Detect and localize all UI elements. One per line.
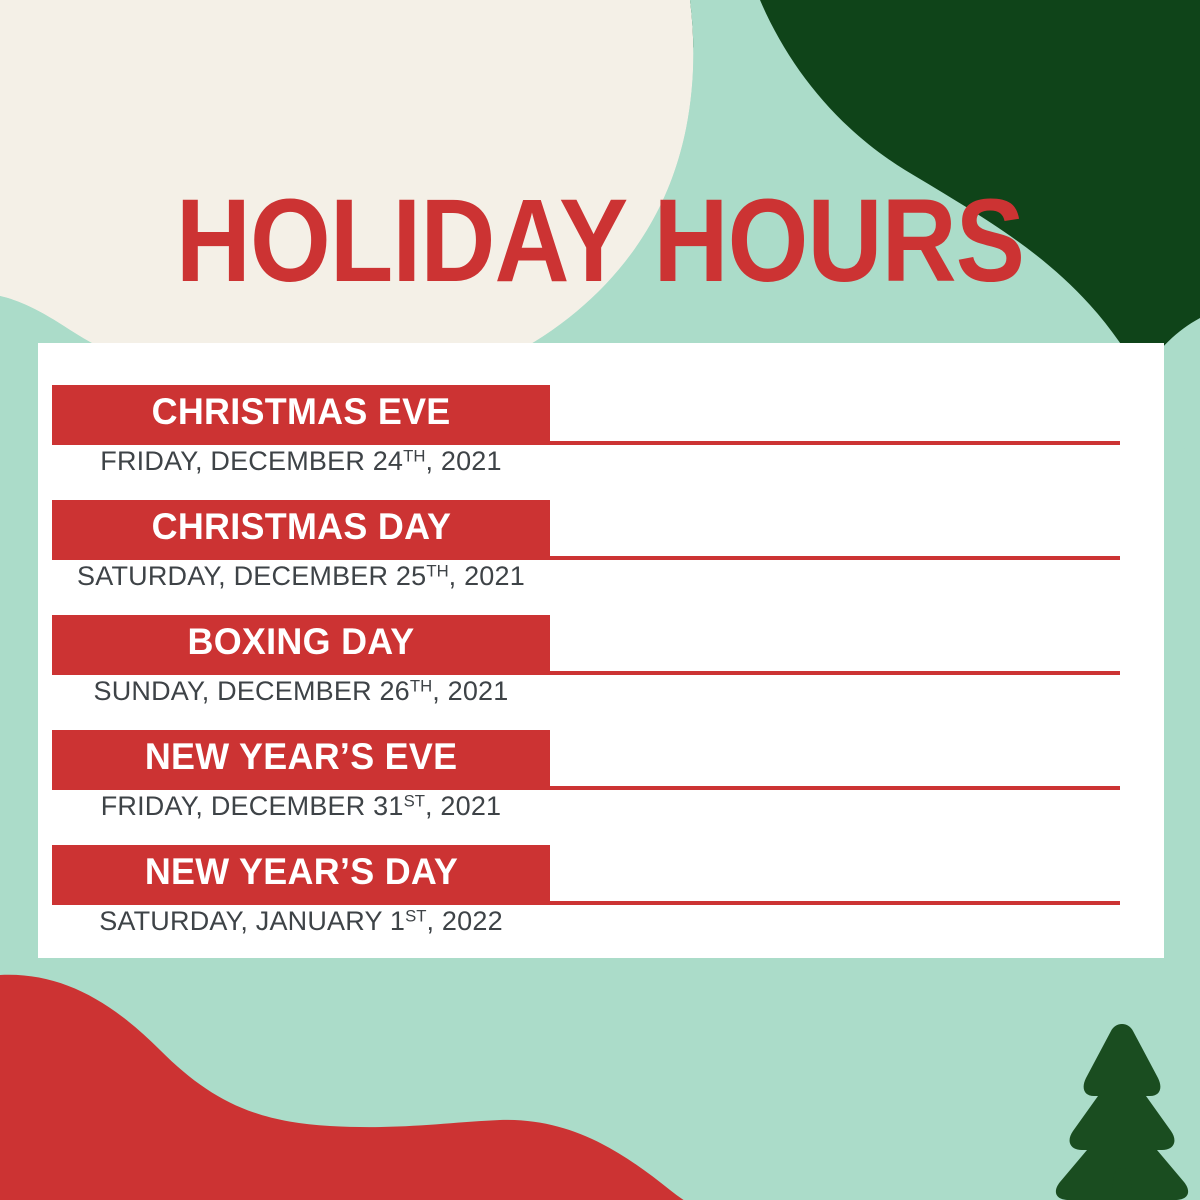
holiday-banner: BOXING DAY xyxy=(52,615,550,672)
date-month: JANUARY xyxy=(256,906,382,936)
poster-canvas: HOLIDAY HOURS CHRISTMAS EVE FRIDAY, DECE… xyxy=(0,0,1200,1200)
holiday-name: NEW YEAR’S EVE xyxy=(145,736,458,778)
holiday-date: SATURDAY, JANUARY 1ST, 2022 xyxy=(52,906,550,937)
date-day: 26 xyxy=(379,676,409,706)
holiday-date: FRIDAY, DECEMBER 31ST, 2021 xyxy=(52,791,550,822)
holiday-name: CHRISTMAS DAY xyxy=(151,506,451,548)
date-year: 2021 xyxy=(440,791,501,821)
date-weekday: SATURDAY, xyxy=(77,561,226,591)
date-ordinal: ST xyxy=(404,791,425,810)
date-ordinal: TH xyxy=(403,446,425,465)
date-ordinal: ST xyxy=(405,906,426,925)
holiday-name: CHRISTMAS EVE xyxy=(152,391,451,433)
date-day: 31 xyxy=(373,791,403,821)
page-title: HOLIDAY HOURS xyxy=(72,182,1128,300)
date-weekday: FRIDAY, xyxy=(101,791,203,821)
date-ordinal: TH xyxy=(410,676,432,695)
holiday-date: FRIDAY, DECEMBER 24TH, 2021 xyxy=(52,446,550,477)
date-month: DECEMBER xyxy=(234,561,389,591)
schedule-card: CHRISTMAS EVE FRIDAY, DECEMBER 24TH, 202… xyxy=(38,343,1164,958)
holiday-date: SUNDAY, DECEMBER 26TH, 2021 xyxy=(52,676,550,707)
date-weekday: FRIDAY, xyxy=(100,446,202,476)
holiday-banner: CHRISTMAS DAY xyxy=(52,500,550,557)
holiday-name: BOXING DAY xyxy=(188,621,415,663)
holiday-banner: NEW YEAR’S EVE xyxy=(52,730,550,787)
date-day: 25 xyxy=(396,561,426,591)
date-month: DECEMBER xyxy=(211,791,366,821)
date-year: 2021 xyxy=(464,561,525,591)
date-month: DECEMBER xyxy=(217,676,372,706)
date-weekday: SATURDAY, xyxy=(99,906,248,936)
holiday-banner: CHRISTMAS EVE xyxy=(52,385,550,442)
date-month: DECEMBER xyxy=(210,446,365,476)
holiday-name: NEW YEAR’S DAY xyxy=(144,851,457,893)
date-ordinal: TH xyxy=(426,561,448,580)
date-year: 2022 xyxy=(442,906,503,936)
date-year: 2021 xyxy=(441,446,502,476)
date-day: 1 xyxy=(390,906,405,936)
date-weekday: SUNDAY, xyxy=(93,676,209,706)
date-year: 2021 xyxy=(448,676,509,706)
holiday-date: SATURDAY, DECEMBER 25TH, 2021 xyxy=(52,561,550,592)
holiday-banner: NEW YEAR’S DAY xyxy=(52,845,550,902)
date-day: 24 xyxy=(373,446,403,476)
